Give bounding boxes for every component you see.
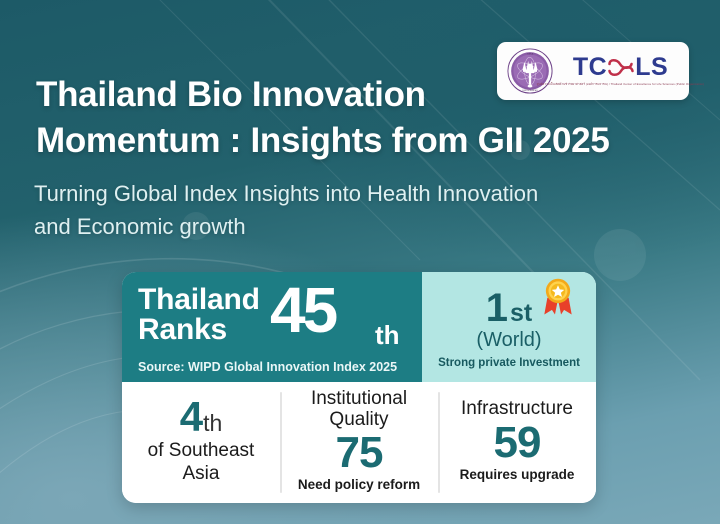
- world-rank-ordinal: st: [510, 301, 532, 326]
- infrastructure-note: Requires upgrade: [460, 467, 575, 482]
- institutional-quality-title-line-1: Institutional: [311, 389, 407, 410]
- tcels-logo-card: TCELS LIFE SCIENCES T C L S ศูนย์ความเป็…: [497, 42, 689, 100]
- thailand-rank-panel: Thailand Ranks 45 th Source: WIPD Global…: [122, 272, 422, 382]
- dna-wave-icon: [608, 57, 634, 79]
- page-subtitle: Turning Global Index Insights into Healt…: [34, 178, 674, 243]
- institutional-quality-title-line-2: Quality: [311, 410, 407, 431]
- southeast-asia-label: of Southeast Asia: [148, 440, 255, 485]
- southeast-asia-label-line-2: Asia: [148, 463, 255, 485]
- page-subtitle-line-2: and Economic growth: [34, 211, 674, 244]
- rank-word-thailand: Thailand: [138, 285, 260, 315]
- world-rank-panel: 1 st (World) Strong private Investment: [422, 272, 596, 382]
- infrastructure-value: 59: [494, 421, 541, 465]
- infrastructure-title-line-1: Infrastructure: [461, 399, 573, 420]
- institutional-quality-value: 75: [336, 431, 383, 475]
- institutional-quality-title: Institutional Quality: [311, 389, 407, 431]
- world-rank-value-row: 1 st: [486, 288, 532, 328]
- stat-cell-infrastructure: Infrastructure 59 Requires upgrade: [438, 382, 596, 503]
- page-subtitle-line-1: Turning Global Index Insights into Healt…: [34, 178, 674, 211]
- wordmark-letter-l: L: [635, 55, 651, 80]
- rank-ordinal: th: [375, 320, 400, 351]
- institutional-quality-note: Need policy reform: [298, 477, 420, 492]
- tcels-tagline: ศูนย์ความเป็นเลิศด้านชีววิทยาศาสตร์ (องค…: [537, 82, 704, 86]
- gold-medal-icon: [541, 278, 575, 316]
- wordmark-letter-s: S: [651, 55, 668, 80]
- world-rank-scope: (World): [476, 329, 541, 352]
- stats-card: Thailand Ranks 45 th Source: WIPD Global…: [122, 272, 596, 503]
- southeast-asia-value: 4: [180, 396, 202, 438]
- rank-value: 45: [270, 278, 335, 342]
- page-title-line-2: Momentum : Insights from GII 2025: [36, 118, 696, 164]
- rank-source-note: Source: WIPD Global Innovation Index 202…: [138, 360, 397, 374]
- infographic-canvas: Thailand Bio Innovation Momentum : Insig…: [0, 0, 720, 524]
- tcels-wordmark-letters: T C L S: [573, 55, 668, 80]
- stat-cell-institutional-quality: Institutional Quality 75 Need policy ref…: [280, 382, 438, 503]
- svg-text:TCELS: TCELS: [527, 53, 534, 55]
- stats-card-top-row: Thailand Ranks 45 th Source: WIPD Global…: [122, 272, 596, 382]
- stats-card-bottom-row: 4 th of Southeast Asia Institutional Qua…: [122, 382, 596, 503]
- world-rank-note: Strong private Investment: [438, 357, 580, 369]
- wordmark-letter-c: C: [589, 55, 608, 80]
- southeast-asia-value-row: 4 th: [180, 396, 223, 438]
- world-rank-value: 1: [486, 288, 508, 328]
- svg-text:LIFE SCIENCES: LIFE SCIENCES: [522, 90, 538, 92]
- rank-word-ranks: Ranks: [138, 315, 227, 345]
- southeast-asia-ordinal: th: [203, 412, 222, 435]
- stat-cell-southeast-asia: 4 th of Southeast Asia: [122, 382, 280, 503]
- infrastructure-title: Infrastructure: [461, 399, 573, 420]
- southeast-asia-label-line-1: of Southeast: [148, 440, 255, 462]
- wordmark-letter-t: T: [573, 55, 589, 80]
- tcels-wordmark: T C L S ศูนย์ความเป็นเลิศด้านชีววิทยาศาส…: [562, 55, 679, 86]
- tcels-emblem-seal-icon: TCELS LIFE SCIENCES: [507, 48, 553, 94]
